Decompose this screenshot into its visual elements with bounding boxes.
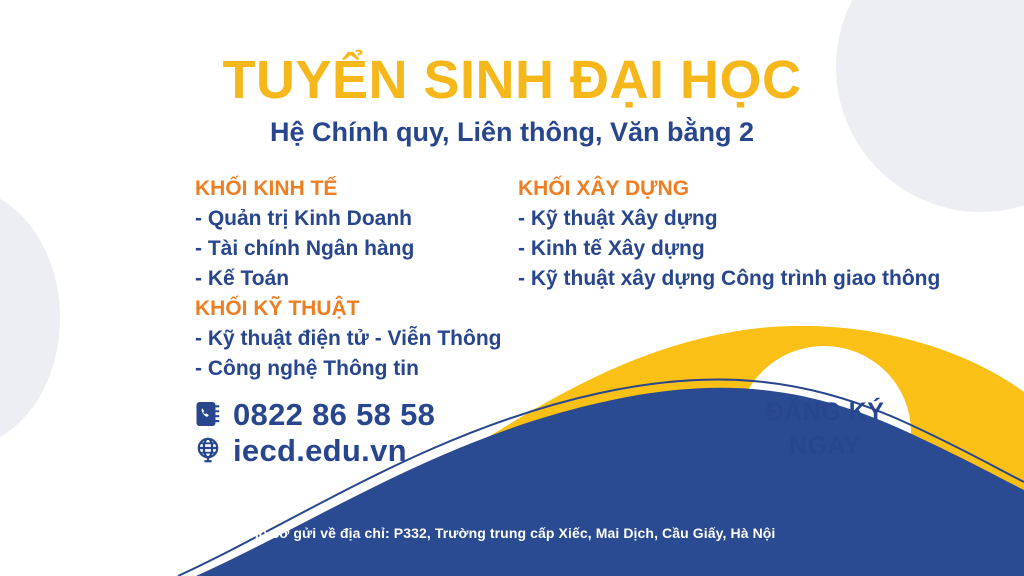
contact-block: 0822 86 58 58 iecd.edu.vn: [195, 396, 435, 468]
footer-address: Hồ sơ gửi về địa chỉ: P332, Trường trung…: [0, 525, 1024, 541]
program-item: - Kỹ thuật Xây dựng: [518, 204, 1018, 234]
register-now-button[interactable]: ĐĂNG KÝ NGAY: [738, 346, 912, 512]
group-heading-ky-thuat: KHỐI KỸ THUẬT: [195, 294, 515, 324]
phone-book-icon: [195, 401, 221, 427]
cta-line-1: ĐĂNG KÝ: [766, 395, 885, 429]
page-title: TUYỂN SINH ĐẠI HỌC: [0, 52, 1024, 108]
group-heading-xay-dung: KHỐI XÂY DỰNG: [518, 174, 1018, 204]
program-column-left: KHỐI KINH TẾ - Quản trị Kinh Doanh - Tài…: [195, 174, 515, 384]
headline-block: TUYỂN SINH ĐẠI HỌC Hệ Chính quy, Liên th…: [0, 52, 1024, 148]
program-item: - Kinh tế Xây dựng: [518, 234, 1018, 264]
admissions-poster: TUYỂN SINH ĐẠI HỌC Hệ Chính quy, Liên th…: [0, 0, 1024, 576]
program-item: - Kỹ thuật xây dựng Công trình giao thôn…: [518, 264, 1018, 294]
program-item: - Kỹ thuật điện tử - Viễn Thông: [195, 324, 515, 354]
cta-line-2: NGAY: [789, 429, 861, 463]
contact-row-website[interactable]: iecd.edu.vn: [195, 432, 435, 468]
phone-number: 0822 86 58 58: [233, 399, 435, 430]
program-item: - Kế Toán: [195, 264, 515, 294]
program-item: - Tài chính Ngân hàng: [195, 234, 515, 264]
website-url: iecd.edu.vn: [233, 435, 407, 466]
page-subtitle: Hệ Chính quy, Liên thông, Văn bằng 2: [0, 118, 1024, 148]
program-column-right: KHỐI XÂY DỰNG - Kỹ thuật Xây dựng - Kinh…: [518, 174, 1018, 294]
group-heading-kinh-te: KHỐI KINH TẾ: [195, 174, 515, 204]
program-item: - Công nghệ Thông tin: [195, 354, 515, 384]
contact-row-phone[interactable]: 0822 86 58 58: [195, 396, 435, 432]
program-item: - Quản trị Kinh Doanh: [195, 204, 515, 234]
globe-icon: [195, 437, 221, 463]
